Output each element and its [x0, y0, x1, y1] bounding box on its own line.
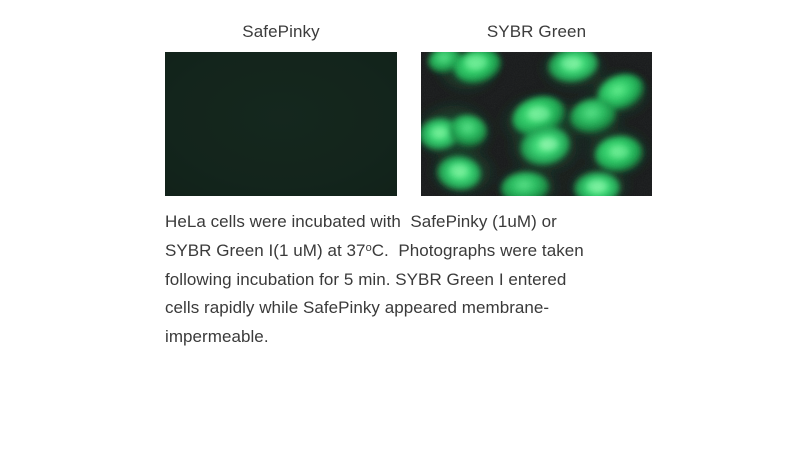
- caption-line-2: SYBR Green I(1 uM) at 37oC. Photographs …: [165, 237, 665, 266]
- caption-line-5: impermeable.: [165, 323, 665, 352]
- micrograph-panel-safepinky: [165, 52, 397, 196]
- sybr-green-micrograph-image: [421, 52, 652, 196]
- caption-line-1: HeLa cells were incubated with SafePinky…: [165, 208, 665, 237]
- caption-line-2a: SYBR Green I(1 uM) at 37: [165, 241, 366, 260]
- caption-line-4: cells rapidly while SafePinky appeared m…: [165, 294, 665, 323]
- micrograph-panel-sybr-green: [421, 52, 652, 196]
- caption-line-3: following incubation for 5 min. SYBR Gre…: [165, 266, 665, 295]
- safepinky-micrograph-image: [165, 52, 397, 196]
- caption-line-2b: C. Photographs were taken: [372, 241, 584, 260]
- figure-caption: HeLa cells were incubated with SafePinky…: [165, 208, 665, 352]
- figure-container: SafePinky SYBR Green: [0, 0, 800, 450]
- panel-title-safepinky: SafePinky: [165, 22, 397, 42]
- panel-title-sybr-green: SYBR Green: [421, 22, 652, 42]
